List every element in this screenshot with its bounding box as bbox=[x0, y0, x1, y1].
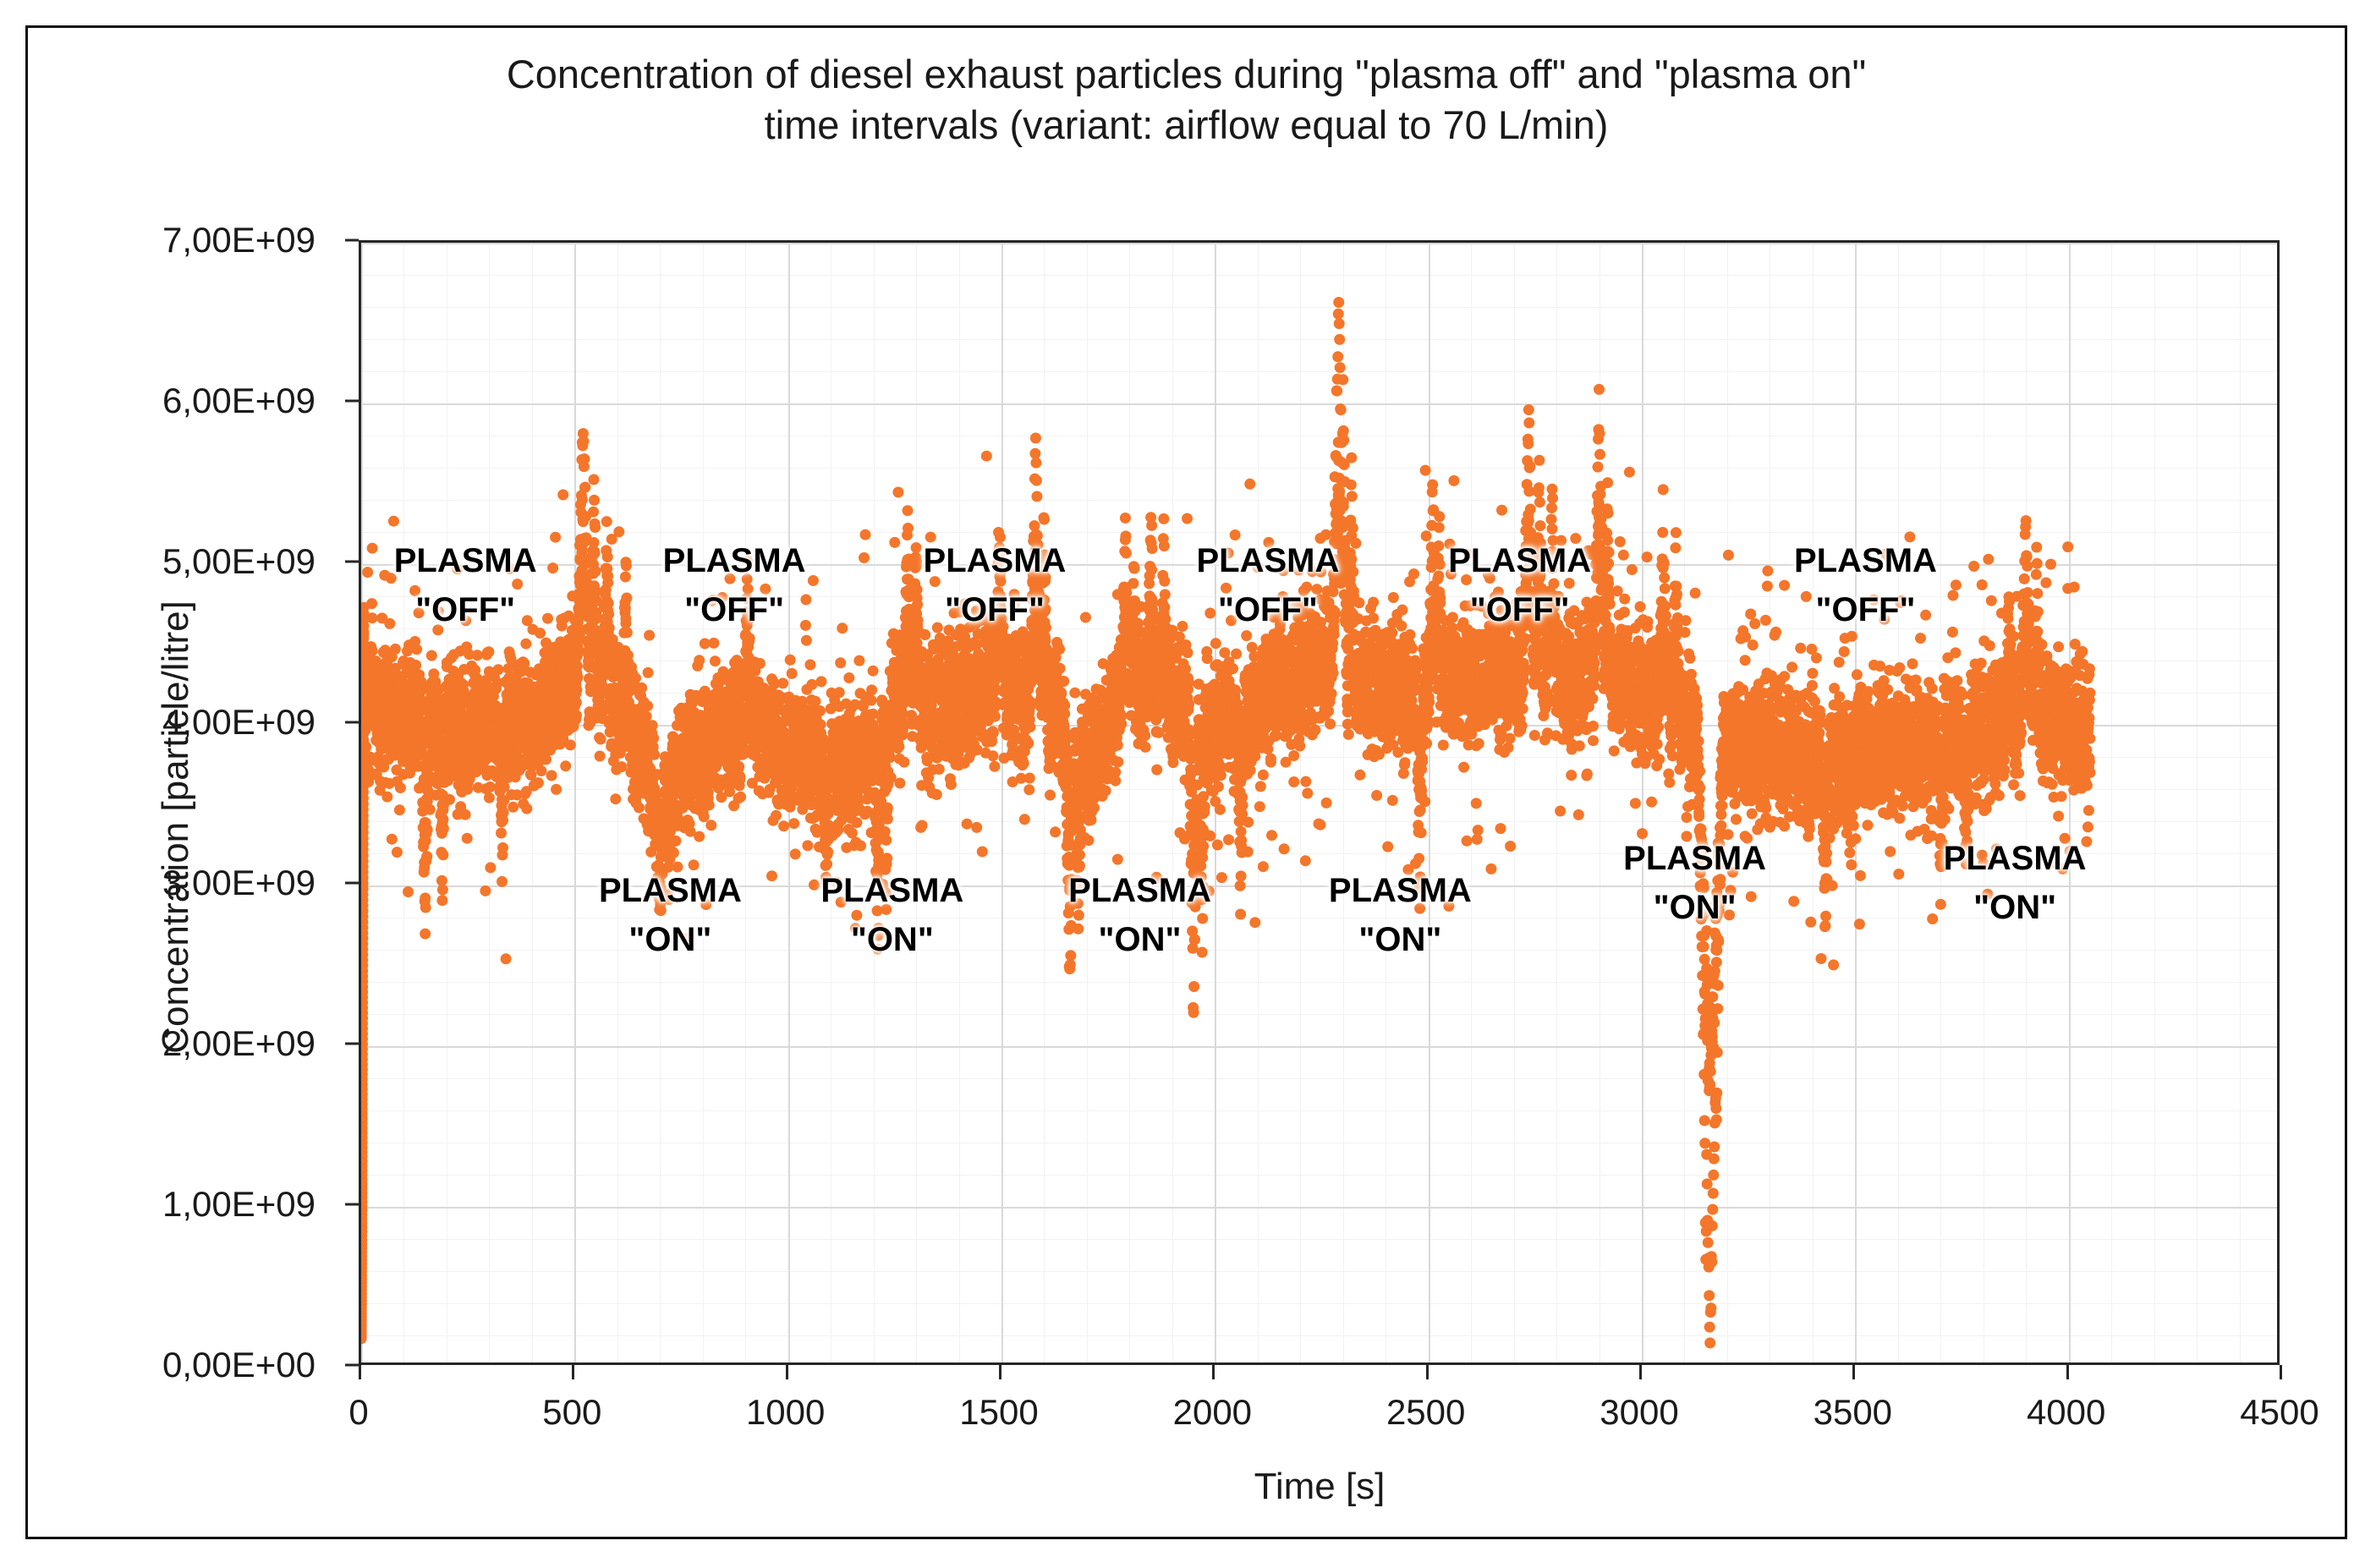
x-tick-label: 2500 bbox=[1342, 1392, 1511, 1433]
plasma-label-on-3: PLASMA "ON" bbox=[820, 866, 963, 964]
plasma-label-on-11: PLASMA "ON" bbox=[1944, 834, 2087, 932]
x-tick-label: 4500 bbox=[2195, 1392, 2347, 1433]
x-axis-title: Time [s] bbox=[359, 1466, 2280, 1508]
plasma-label-off-10: PLASMA "OFF" bbox=[1794, 536, 1937, 634]
x-tick-mark bbox=[1852, 1365, 1855, 1379]
x-tick-label: 3500 bbox=[1768, 1392, 1937, 1433]
x-tick-mark bbox=[2280, 1365, 2282, 1379]
x-tick-label: 500 bbox=[487, 1392, 656, 1433]
x-tick-label: 4000 bbox=[1982, 1392, 2151, 1433]
plasma-label-off-0: PLASMA "OFF" bbox=[394, 536, 537, 634]
x-tick-mark bbox=[572, 1365, 574, 1379]
x-tick-mark bbox=[786, 1365, 788, 1379]
x-tick-mark bbox=[1639, 1365, 1642, 1379]
x-tick-mark bbox=[1426, 1365, 1429, 1379]
plasma-label-on-1: PLASMA "ON" bbox=[599, 866, 742, 964]
plasma-label-off-8: PLASMA "OFF" bbox=[1448, 536, 1591, 634]
chart-figure: Concentration of diesel exhaust particle… bbox=[25, 25, 2347, 1539]
x-tick-label: 3000 bbox=[1555, 1392, 1724, 1433]
x-tick-mark bbox=[359, 1365, 361, 1379]
x-tick-label: 2000 bbox=[1128, 1392, 1297, 1433]
plasma-label-on-7: PLASMA "ON" bbox=[1329, 866, 1472, 964]
plasma-label-off-2: PLASMA "OFF" bbox=[663, 536, 806, 634]
x-tick-mark bbox=[2066, 1365, 2069, 1379]
x-tick-label: 1000 bbox=[701, 1392, 870, 1433]
x-tick-label: 0 bbox=[274, 1392, 443, 1433]
plasma-label-on-9: PLASMA "ON" bbox=[1623, 834, 1766, 932]
x-tick-mark bbox=[999, 1365, 1001, 1379]
plasma-label-off-4: PLASMA "OFF" bbox=[924, 536, 1067, 634]
plasma-annotations: PLASMA "OFF"PLASMA "ON"PLASMA "OFF"PLASM… bbox=[28, 28, 2345, 1537]
plasma-label-off-6: PLASMA "OFF" bbox=[1196, 536, 1339, 634]
plasma-label-on-5: PLASMA "ON" bbox=[1068, 866, 1211, 964]
x-tick-label: 1500 bbox=[914, 1392, 1084, 1433]
x-tick-mark bbox=[1212, 1365, 1215, 1379]
